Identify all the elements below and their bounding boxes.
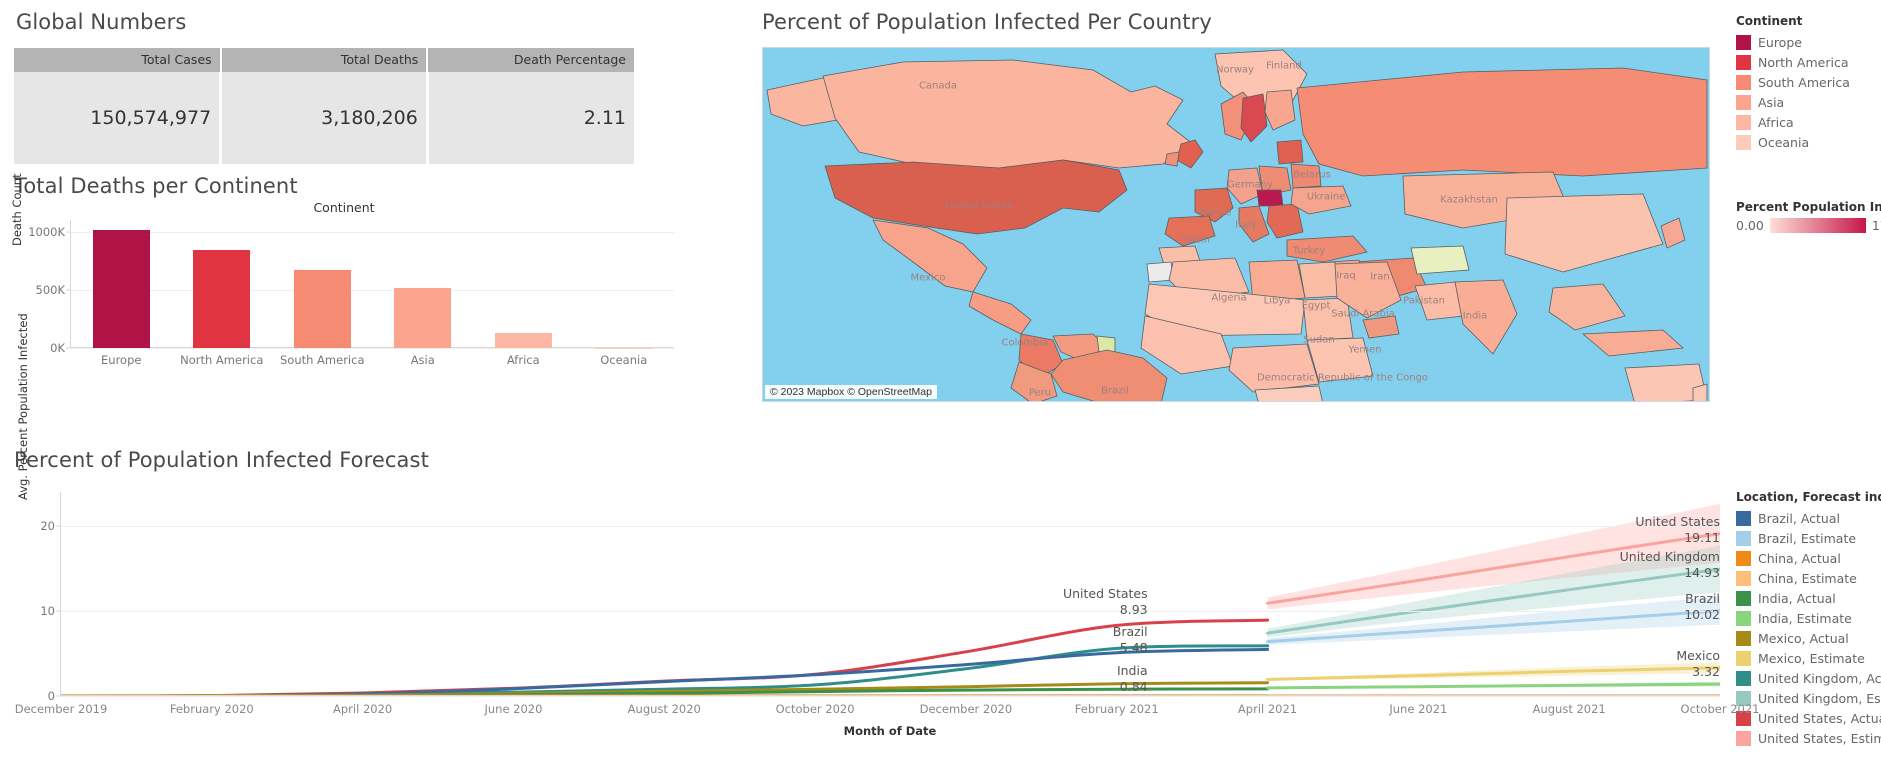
bar-chart: Continent Death Count 0K500K1000KEuropeN…	[14, 220, 674, 370]
forecast-legend-label: India, Estimate	[1758, 611, 1852, 626]
global-numbers-table: Total Cases Total Deaths Death Percentag…	[14, 48, 634, 164]
bar[interactable]	[294, 270, 351, 348]
map-country-russia[interactable]	[1297, 68, 1707, 176]
forecast-end-label-value: 14.93	[1620, 565, 1720, 581]
forecast-x-tick: October 2020	[776, 702, 855, 716]
forecast-x-tick: April 2021	[1238, 702, 1297, 716]
forecast-point-label-value: 0.84	[1117, 679, 1148, 695]
map-country-spain[interactable]	[1165, 216, 1215, 246]
gridline	[61, 526, 1720, 527]
map-country-sudan[interactable]	[1303, 298, 1353, 340]
bar-chart-x-tick: Europe	[71, 353, 172, 367]
forecast-legend-label: United Kingdom, Esti..	[1758, 691, 1881, 706]
map-country-usa[interactable]	[825, 160, 1127, 234]
percent-infected-ramp-legend: Percent Population Infect.. 0.00 17.13	[1736, 200, 1881, 233]
bar-category-europe[interactable]: Europe	[71, 220, 172, 348]
bar-chart-y-tick: 1000K	[28, 225, 65, 239]
forecast-x-tick: February 2021	[1075, 702, 1159, 716]
forecast-point-label: India0.84	[1117, 663, 1148, 695]
bar-chart-x-tick: South America	[272, 353, 373, 367]
continent-legend-label: Europe	[1758, 35, 1802, 50]
bar-chart-plot-area: 0K500K1000KEuropeNorth AmericaSouth Amer…	[70, 220, 674, 348]
map-country-czech[interactable]	[1257, 190, 1283, 206]
continent-legend-label: North America	[1758, 55, 1849, 70]
forecast-x-tick: August 2021	[1533, 702, 1606, 716]
bar-chart-y-tick: 0K	[50, 341, 65, 355]
map-country-china[interactable]	[1505, 194, 1663, 272]
legend-swatch-icon	[1736, 611, 1751, 626]
ramp-min-value: 0.00	[1736, 218, 1764, 233]
legend-swatch-icon	[1736, 511, 1751, 526]
value-total-deaths: 3,180,206	[221, 72, 428, 164]
forecast-x-axis-title: Month of Date	[60, 724, 1720, 738]
bar[interactable]	[193, 250, 250, 348]
forecast-legend-label: Brazil, Actual	[1758, 511, 1840, 526]
bar-chart-x-tick: Asia	[373, 353, 474, 367]
map-country-uk[interactable]	[1177, 140, 1203, 168]
legend-swatch-icon	[1736, 75, 1751, 90]
bar[interactable]	[93, 230, 150, 348]
continent-legend-item[interactable]: North America	[1736, 52, 1850, 72]
gridline	[71, 348, 674, 349]
value-death-percentage: 2.11	[427, 72, 634, 164]
map-country-brazil[interactable]	[1051, 350, 1167, 402]
forecast-x-tick: December 2020	[920, 702, 1013, 716]
forecast-legend-item[interactable]: Brazil, Estimate	[1736, 528, 1881, 548]
map-title: Percent of Population Infected Per Count…	[762, 10, 1712, 34]
column-header-death-percentage: Death Percentage	[427, 48, 634, 72]
forecast-point-label-name: India	[1117, 663, 1148, 678]
forecast-x-tick: February 2020	[170, 702, 254, 716]
bar-category-asia[interactable]: Asia	[373, 220, 474, 348]
legend-swatch-icon	[1736, 95, 1751, 110]
table-header-row: Total Cases Total Deaths Death Percentag…	[14, 48, 634, 72]
bar-chart-y-axis-title: Death Count	[10, 173, 24, 246]
bar-chart-x-tick: Africa	[473, 353, 574, 367]
forecast-end-label-name: United States	[1635, 514, 1720, 529]
forecast-legend-label: United States, Estim..	[1758, 731, 1881, 746]
forecast-legend-label: United States, Actual	[1758, 711, 1881, 726]
map-country-india[interactable]	[1455, 280, 1517, 354]
forecast-legend-item[interactable]: India, Estimate	[1736, 608, 1881, 628]
map-country-japan[interactable]	[1661, 218, 1685, 248]
ramp-legend-title: Percent Population Infect..	[1736, 200, 1881, 214]
legend-swatch-icon	[1736, 571, 1751, 586]
bar[interactable]	[394, 288, 451, 349]
map-countries-layer	[763, 48, 1710, 402]
forecast-point-label-value: 5.48	[1113, 640, 1148, 656]
forecast-end-label: Brazil10.02	[1684, 591, 1720, 623]
map-country-eafrica[interactable]	[1307, 338, 1373, 382]
forecast-y-tick: 0	[48, 689, 55, 703]
forecast-legend-item[interactable]: United States, Estim..	[1736, 728, 1881, 748]
forecast-line-india-estimate[interactable]	[1268, 684, 1720, 688]
bar-category-oceania[interactable]: Oceania	[574, 220, 675, 348]
forecast-legend-label: Brazil, Estimate	[1758, 531, 1856, 546]
continent-legend-title: Continent	[1736, 14, 1850, 28]
legend-swatch-icon	[1736, 531, 1751, 546]
forecast-legend-label: India, Actual	[1758, 591, 1836, 606]
gridline	[61, 611, 1720, 612]
forecast-legend-label: China, Actual	[1758, 551, 1841, 566]
forecast-end-label-value: 10.02	[1684, 607, 1720, 623]
global-numbers-title: Global Numbers	[16, 10, 634, 34]
bar-series: EuropeNorth AmericaSouth AmericaAsiaAfri…	[71, 220, 674, 348]
legend-swatch-icon	[1736, 135, 1751, 150]
map-country-indonesia[interactable]	[1583, 330, 1683, 356]
continent-legend: Continent EuropeNorth AmericaSouth Ameri…	[1736, 14, 1850, 152]
continent-legend-item[interactable]: Oceania	[1736, 132, 1850, 152]
forecast-legend-item[interactable]: China, Actual	[1736, 548, 1881, 568]
continent-legend-item[interactable]: South America	[1736, 72, 1850, 92]
forecast-legend-item[interactable]: United Kingdom, Actu..	[1736, 668, 1881, 688]
color-ramp-icon	[1770, 218, 1866, 233]
forecast-end-label-value: 3.32	[1676, 664, 1720, 680]
continent-legend-item[interactable]: Europe	[1736, 32, 1850, 52]
continent-legend-label: South America	[1758, 75, 1850, 90]
legend-swatch-icon	[1736, 551, 1751, 566]
map-country-turkey[interactable]	[1287, 236, 1367, 262]
global-numbers-panel: Global Numbers Total Cases Total Deaths …	[14, 10, 634, 164]
forecast-panel: Percent of Population Infected Forecast …	[14, 448, 1734, 742]
forecast-y-tick: 20	[40, 519, 55, 533]
forecast-x-tick: April 2020	[333, 702, 392, 716]
ramp-legend-row: 0.00 17.13	[1736, 218, 1881, 233]
column-header-total-deaths: Total Deaths	[221, 48, 428, 72]
map-country-turkmen[interactable]	[1411, 246, 1469, 274]
map-canvas[interactable]: CanadaUnited StatesMexicoColombiaBrazilP…	[762, 47, 1710, 402]
forecast-x-tick: June 2020	[484, 702, 542, 716]
forecast-end-label-name: United Kingdom	[1620, 549, 1720, 564]
forecast-legend-item[interactable]: Mexico, Estimate	[1736, 648, 1881, 668]
map-country-yemen[interactable]	[1363, 316, 1399, 338]
forecast-legend-label: China, Estimate	[1758, 571, 1857, 586]
ramp-max-value: 17.13	[1872, 218, 1881, 233]
legend-swatch-icon	[1736, 115, 1751, 130]
forecast-point-label-name: United States	[1063, 586, 1148, 601]
column-header-total-cases: Total Cases	[14, 48, 221, 72]
map-country-ireland[interactable]	[1165, 152, 1179, 166]
legend-swatch-icon	[1736, 35, 1751, 50]
forecast-point-label-name: Brazil	[1113, 624, 1148, 639]
map-country-germany[interactable]	[1227, 168, 1263, 204]
map-attribution: © 2023 Mapbox © OpenStreetMap	[765, 385, 937, 399]
map-country-seasia[interactable]	[1549, 284, 1625, 330]
gridline	[61, 696, 1720, 697]
forecast-legend-label: Mexico, Estimate	[1758, 651, 1865, 666]
tick-mark	[56, 525, 61, 526]
legend-swatch-icon	[1736, 591, 1751, 606]
dashboard: Global Numbers Total Cases Total Deaths …	[0, 0, 1881, 781]
forecast-x-tick: December 2019	[15, 702, 108, 716]
tick-mark	[56, 611, 61, 612]
continent-legend-item[interactable]: Asia	[1736, 92, 1850, 112]
forecast-end-label: Mexico3.32	[1676, 648, 1720, 680]
forecast-end-label: United Kingdom14.93	[1620, 549, 1720, 581]
map-country-balkans[interactable]	[1267, 204, 1303, 238]
bar-category-south-america[interactable]: South America	[272, 220, 373, 348]
bar-chart-x-tick: North America	[172, 353, 273, 367]
forecast-chart: Avg. Percent Population Infected 01020De…	[14, 492, 1720, 742]
bar-chart-y-tick: 500K	[36, 283, 66, 297]
legend-swatch-icon	[1736, 631, 1751, 646]
map-country-finland[interactable]	[1265, 90, 1295, 130]
forecast-x-tick: October 2021	[1681, 702, 1760, 716]
forecast-end-label-name: Brazil	[1685, 591, 1720, 606]
forecast-legend-item[interactable]: Brazil, Actual	[1736, 508, 1881, 528]
map-country-sweden[interactable]	[1241, 94, 1267, 142]
legend-swatch-icon	[1736, 55, 1751, 70]
bar-category-africa[interactable]: Africa	[473, 220, 574, 348]
forecast-legend-label: United Kingdom, Actu..	[1758, 671, 1881, 686]
forecast-legend-label: Mexico, Actual	[1758, 631, 1849, 646]
bar-chart-legend-title: Continent	[14, 200, 674, 215]
forecast-x-tick: August 2020	[628, 702, 701, 716]
forecast-legend-item[interactable]: Mexico, Actual	[1736, 628, 1881, 648]
value-total-cases: 150,574,977	[14, 72, 221, 164]
legend-swatch-icon	[1736, 651, 1751, 666]
forecast-plot-area: 01020December 2019February 2020April 202…	[60, 492, 1720, 696]
continent-legend-label: Oceania	[1758, 135, 1809, 150]
map-country-canada[interactable]	[823, 60, 1193, 168]
forecast-series-layer	[61, 492, 1720, 696]
forecast-point-label-value: 8.93	[1063, 602, 1148, 618]
bar-category-north-america[interactable]: North America	[172, 220, 273, 348]
forecast-point-label: United States8.93	[1063, 586, 1148, 618]
map-panel: Percent of Population Infected Per Count…	[762, 10, 1712, 402]
forecast-legend-item[interactable]: India, Actual	[1736, 588, 1881, 608]
map-country-italy[interactable]	[1239, 206, 1269, 242]
forecast-y-tick: 10	[40, 604, 55, 618]
forecast-end-label: United States19.11	[1635, 514, 1720, 546]
map-country-baltic[interactable]	[1277, 140, 1303, 164]
table-row: 150,574,977 3,180,206 2.11	[14, 72, 634, 164]
forecast-legend-item[interactable]: China, Estimate	[1736, 568, 1881, 588]
bar-chart-x-tick: Oceania	[574, 353, 675, 367]
map-country-ukraine[interactable]	[1291, 186, 1351, 214]
map-country-camerica[interactable]	[969, 292, 1031, 334]
forecast-legend-title: Location, Forecast indicat..	[1736, 490, 1881, 504]
legend-swatch-icon	[1736, 671, 1751, 686]
forecast-end-label-value: 19.11	[1635, 530, 1720, 546]
forecast-end-label-name: Mexico	[1676, 648, 1720, 663]
map-country-drc[interactable]	[1229, 344, 1319, 392]
legend-swatch-icon	[1736, 731, 1751, 746]
continent-legend-label: Africa	[1758, 115, 1794, 130]
continent-legend-label: Asia	[1758, 95, 1784, 110]
deaths-per-continent-panel: Total Deaths per Continent Continent Dea…	[14, 174, 694, 370]
map-country-belarus[interactable]	[1291, 164, 1321, 188]
deaths-per-continent-title: Total Deaths per Continent	[14, 174, 694, 198]
forecast-title: Percent of Population Infected Forecast	[14, 448, 1734, 472]
continent-legend-item[interactable]: Africa	[1736, 112, 1850, 132]
bar[interactable]	[495, 333, 552, 348]
map-country-egypt[interactable]	[1299, 262, 1341, 298]
forecast-y-axis-title: Avg. Percent Population Infected	[16, 313, 30, 500]
tick-mark	[56, 696, 61, 697]
forecast-x-tick: June 2021	[1389, 702, 1447, 716]
forecast-point-label: Brazil5.48	[1113, 624, 1148, 656]
